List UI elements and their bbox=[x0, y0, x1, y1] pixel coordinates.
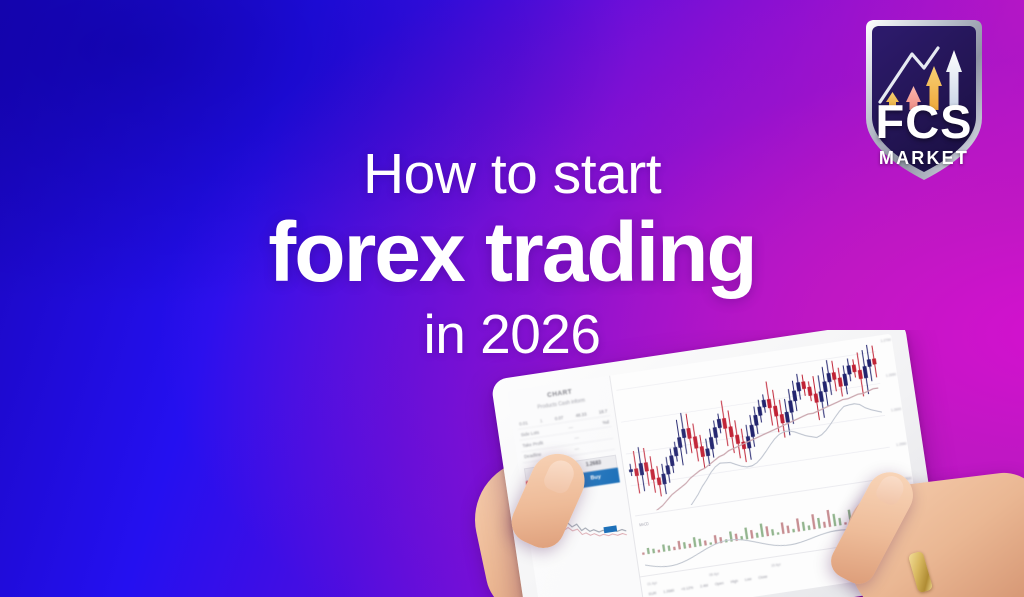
y-tick: 1.2700 bbox=[875, 338, 891, 344]
y-tick: 1.2600 bbox=[885, 407, 901, 413]
table-cell: Low bbox=[745, 577, 752, 582]
table-cell: Open bbox=[715, 581, 724, 586]
order-row-value: 0.07 bbox=[554, 415, 563, 421]
thumb-nail bbox=[541, 456, 578, 496]
y-tick: 1.2650 bbox=[880, 372, 896, 378]
order-row-mid: — bbox=[568, 424, 573, 430]
logo-brand-text: FCS bbox=[854, 98, 994, 145]
table-cell: 1.2680 bbox=[663, 588, 674, 594]
order-row-last: 18.7 bbox=[598, 408, 607, 414]
order-row-label: Side Lots bbox=[520, 430, 539, 438]
table-cell: Close bbox=[758, 574, 768, 579]
tablet-in-hands: CHART Products Cash inform 0.01 1 0.07 4… bbox=[460, 330, 1024, 597]
table-cell: High bbox=[730, 579, 738, 584]
logo-tagline-text: MARKET bbox=[854, 149, 994, 167]
table-cell: 2.4M bbox=[700, 583, 709, 588]
order-row-mid: 1 bbox=[540, 418, 543, 423]
y-tick: 1.2550 bbox=[890, 442, 906, 448]
order-row-mid: — bbox=[574, 435, 579, 441]
table-cell: +0.12% bbox=[681, 585, 694, 591]
table-cell: EUR bbox=[649, 591, 657, 596]
order-row-mid: — bbox=[574, 446, 579, 452]
headline-line-2: forex trading bbox=[0, 206, 1024, 298]
promo-banner: How to start forex trading in 2026 bbox=[0, 0, 1024, 597]
order-row-label: Take Profit bbox=[522, 440, 543, 448]
indicator-label: MACD bbox=[639, 521, 649, 527]
order-row-label: 0.01 bbox=[519, 420, 528, 426]
order-row-value: %d bbox=[602, 419, 609, 425]
order-row-label: Deadline bbox=[524, 452, 542, 460]
finger-nail bbox=[873, 472, 907, 508]
order-row-extra: 48.33 bbox=[575, 411, 587, 418]
fcs-market-logo: FCS MARKET bbox=[854, 14, 994, 186]
